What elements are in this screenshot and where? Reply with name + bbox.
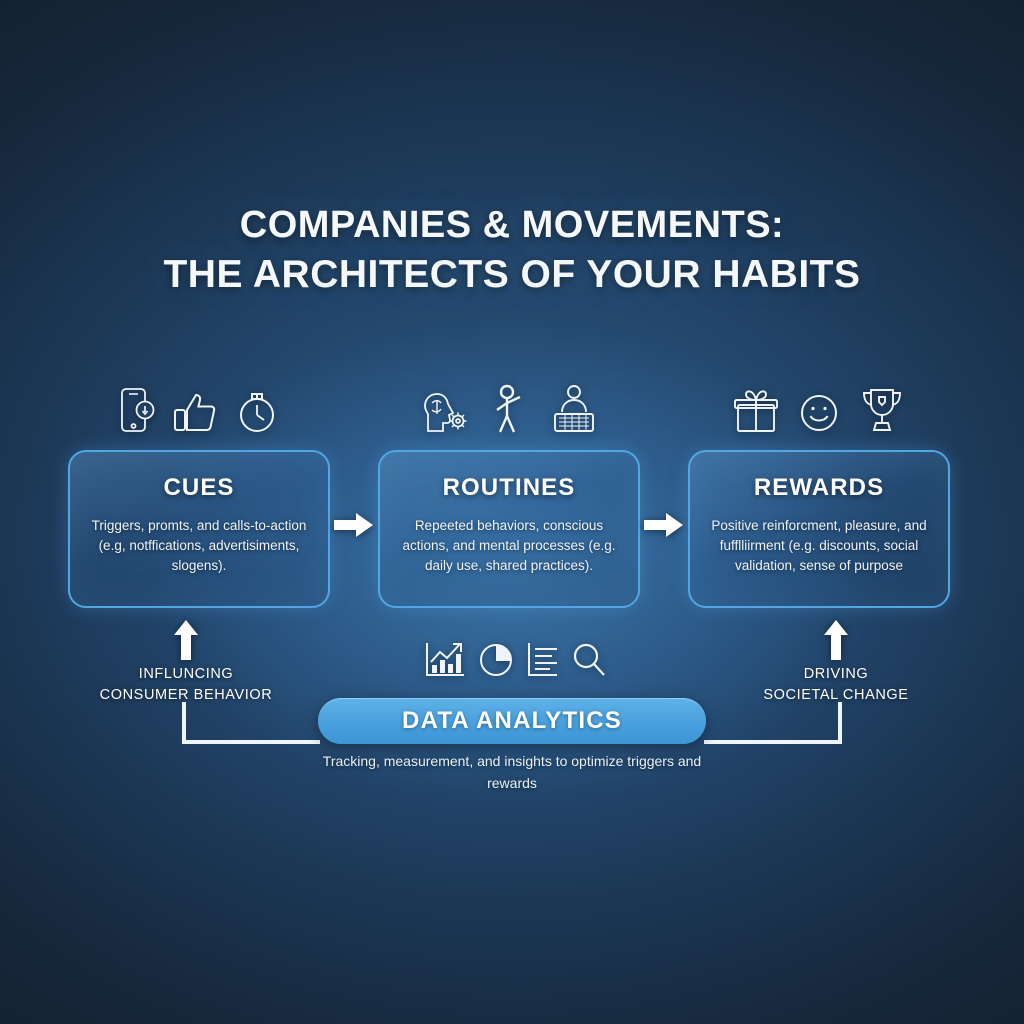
right-connector-line: [704, 702, 844, 746]
thumbs-up-icon: [173, 390, 217, 434]
card-title: ROUTINES: [380, 474, 638, 502]
data-analytics-label: DATA ANALYTICS: [402, 707, 622, 735]
left-connector-line: [180, 702, 320, 746]
page-title: COMPANIES & MOVEMENTS: THE ARCHITECTS OF…: [0, 200, 1024, 300]
title-line-2: THE ARCHITECTS OF YOUR HABITS: [0, 250, 1024, 300]
card-description: Repeeted behaviors, conscious actions, a…: [380, 516, 638, 576]
stopwatch-icon: [235, 388, 279, 434]
pie-chart-icon: [478, 642, 514, 678]
smartphone-notification-icon: [119, 386, 155, 434]
title-line-1: COMPANIES & MOVEMENTS:: [0, 200, 1024, 250]
arrow-right-icon-cues-to-routines: [334, 512, 374, 538]
smiley-face-icon: [797, 390, 841, 434]
rewards-icon-row: [688, 378, 950, 434]
brain-gear-icon: [419, 386, 471, 434]
bar-chart-growth-icon: [424, 641, 466, 679]
right-label-line-1: DRIVING: [721, 664, 951, 685]
left-label-line-1: INFLUNCING: [71, 664, 301, 685]
trophy-icon: [859, 386, 905, 434]
person-standing-icon: [489, 384, 531, 434]
arrow-right-icon-routines-to-rewards: [644, 512, 684, 538]
stage-card-rewards[interactable]: REWARDS Positive reinforcment, pleasure,…: [688, 450, 950, 608]
stage-card-cues[interactable]: CUES Triggers, promts, and calls-to-acti…: [68, 450, 330, 608]
cues-icon-row: [68, 378, 330, 434]
card-title: REWARDS: [690, 474, 948, 502]
analytics-icon-row: [420, 638, 610, 682]
data-analytics-pill[interactable]: DATA ANALYTICS: [318, 698, 706, 744]
card-title: CUES: [70, 474, 328, 502]
card-description: Positive reinforcment, pleasure, and fuf…: [690, 516, 948, 576]
right-connector-label: DRIVING SOCIETAL CHANGE: [721, 664, 951, 706]
gift-box-icon: [733, 388, 779, 434]
arrow-up-icon-right: [823, 620, 849, 660]
data-analytics-description: Tracking, measurement, and insights to o…: [312, 750, 712, 794]
document-list-icon: [526, 641, 560, 679]
routines-icon-row: [378, 378, 640, 434]
stage-card-routines[interactable]: ROUTINES Repeeted behaviors, conscious a…: [378, 450, 640, 608]
person-keyboard-icon: [549, 384, 599, 434]
infographic-canvas: COMPANIES & MOVEMENTS: THE ARCHITECTS OF…: [0, 0, 1024, 1024]
arrow-up-icon-left: [173, 620, 199, 660]
left-connector-label: INFLUNCING CONSUMER BEHAVIOR: [71, 664, 301, 706]
card-description: Triggers, promts, and calls-to-action (e…: [70, 516, 328, 576]
magnifier-icon: [572, 642, 606, 678]
